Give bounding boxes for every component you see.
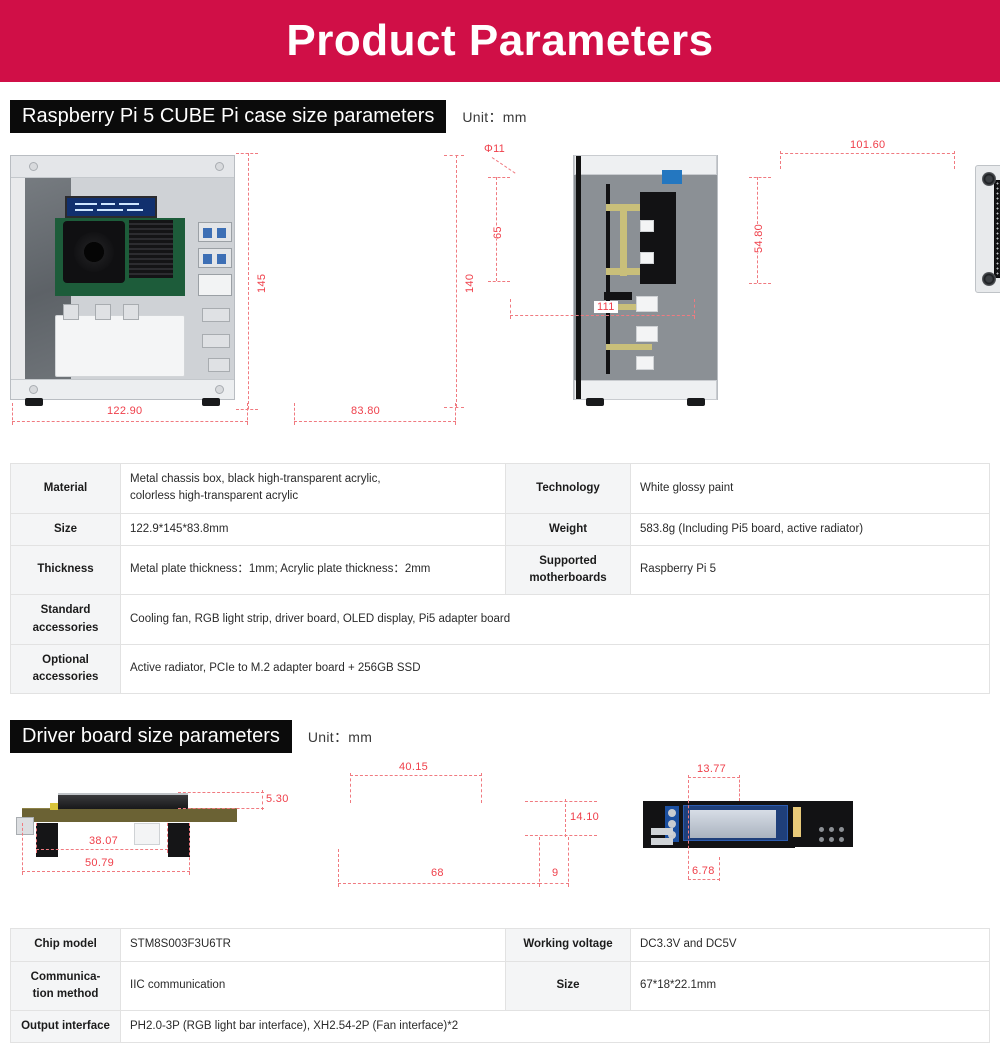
usb-connector xyxy=(16,817,34,835)
dimension-line xyxy=(444,407,464,408)
dimension-line xyxy=(525,801,597,802)
table-row: Material Metal chassis box, black high-t… xyxy=(11,464,990,514)
dimension-line xyxy=(22,823,23,875)
table-row: Thickness Metal plate thickness：1mm; Acr… xyxy=(11,545,990,595)
spec-value: Cooling fan, RGB light strip, driver boa… xyxy=(121,595,990,645)
spec-value: 67*18*22.1mm xyxy=(631,961,990,1011)
dimension-label-height: 145 xyxy=(256,274,268,293)
usb-port xyxy=(198,248,232,268)
diagram-driver-end-view: 13.77 6.78 xyxy=(650,753,830,928)
front-port xyxy=(95,304,111,320)
dimension-line xyxy=(350,773,351,803)
dimension-line xyxy=(248,153,249,409)
section-tag-driver: Driver board size parameters xyxy=(10,720,292,753)
diagram-case-front-view: 145 122.90 xyxy=(0,133,265,433)
section-tag-case: Raspberry Pi 5 CUBE Pi case size paramet… xyxy=(10,100,446,133)
dimension-line xyxy=(36,823,37,853)
dimension-line xyxy=(780,151,781,169)
dimension-line xyxy=(488,281,510,282)
side-port xyxy=(202,334,230,348)
spec-key: Thickness xyxy=(11,545,121,595)
leader-line xyxy=(492,157,516,173)
pi5-adapter-board xyxy=(55,315,185,377)
dimension-label-oled-width: 40.15 xyxy=(396,761,431,773)
table-row: Optional accessories Active radiator, PC… xyxy=(11,644,990,694)
spec-key: Communica- tion method xyxy=(11,961,121,1011)
spec-value: Raspberry Pi 5 xyxy=(631,545,990,595)
dimension-line xyxy=(36,849,168,850)
dimension-label-width: 111 xyxy=(594,301,618,313)
dimension-label-notch-width: 9 xyxy=(550,867,560,879)
dimension-label-end-width: 13.77 xyxy=(694,763,729,775)
dimension-label-width: 122.90 xyxy=(104,405,145,417)
corner-screw-icon xyxy=(215,162,224,171)
spec-key: Supported motherboards xyxy=(506,545,631,595)
pin-header-block xyxy=(36,823,58,857)
driver-spec-table: Chip model STM8S003F3U6TR Working voltag… xyxy=(10,928,990,1043)
side-port xyxy=(202,308,230,322)
table-row: Chip model STM8S003F3U6TR Working voltag… xyxy=(11,929,990,961)
dimension-label-thickness: 5.30 xyxy=(266,793,289,805)
dimension-label-hole-diameter: Φ11 xyxy=(484,143,505,155)
dimension-label-end-depth: 6.78 xyxy=(690,865,717,877)
spec-key: Size xyxy=(506,961,631,1011)
port-block xyxy=(636,356,654,370)
table-row: Output interface PH2.0-3P (RGB light bar… xyxy=(11,1011,990,1043)
dimension-line xyxy=(539,837,540,887)
dimension-line xyxy=(694,299,695,319)
dimension-line xyxy=(178,792,264,793)
spec-value: Metal chassis box, black high-transparen… xyxy=(121,464,506,514)
spec-value: White glossy paint xyxy=(631,464,990,514)
case-foot xyxy=(586,398,604,406)
diagram-case-side-view: 140 83.80 xyxy=(280,133,470,433)
section-header-case: Raspberry Pi 5 CUBE Pi case size paramet… xyxy=(0,100,1000,133)
dimension-line xyxy=(338,849,339,887)
case-foot xyxy=(687,398,705,406)
dimension-line xyxy=(12,403,13,425)
dimension-line xyxy=(539,883,569,884)
spec-value: 122.9*145*83.8mm xyxy=(121,513,506,545)
case-top-rail xyxy=(11,156,234,178)
dimension-line xyxy=(456,155,457,407)
spec-value: PH2.0-3P (RGB light bar interface), XH2.… xyxy=(121,1011,990,1043)
table-row: Standard accessories Cooling fan, RGB li… xyxy=(11,595,990,645)
page-banner: Product Parameters xyxy=(0,0,1000,82)
dimension-line xyxy=(444,155,464,156)
case-spec-table: Material Metal chassis box, black high-t… xyxy=(10,463,990,694)
dimension-line xyxy=(262,790,263,810)
spec-key: Optional accessories xyxy=(11,644,121,694)
dimension-line xyxy=(749,283,771,284)
dimension-line xyxy=(12,421,248,422)
connector xyxy=(134,823,160,845)
spec-value: 583.8g (Including Pi5 board, active radi… xyxy=(631,513,990,545)
spec-value: DC3.3V and DC5V xyxy=(631,929,990,961)
dimension-line xyxy=(167,823,168,853)
dimension-line xyxy=(510,315,695,316)
spec-value: Metal plate thickness：1mm; Acrylic plate… xyxy=(121,545,506,595)
front-port xyxy=(63,304,79,320)
ethernet-port xyxy=(198,274,232,296)
diagram-driver-side-view: 5.30 38.07 50.79 xyxy=(0,753,300,928)
dimension-line xyxy=(510,299,511,319)
dimension-line xyxy=(688,879,720,880)
dimension-label-width: 101.60 xyxy=(847,139,888,151)
oled-display xyxy=(65,196,157,218)
dimension-label-height: 65 xyxy=(492,226,504,239)
driver-board-side-illustration xyxy=(22,808,237,822)
case-bottom-cap xyxy=(574,380,717,400)
case-diagram-strip: 145 122.90 xyxy=(0,133,1000,463)
section-header-driver: Driver board size parameters Unit：mm xyxy=(0,720,1000,753)
dimension-line xyxy=(178,808,264,809)
spec-key: Weight xyxy=(506,513,631,545)
spec-key: Size xyxy=(11,513,121,545)
spec-value: IIC communication xyxy=(121,961,506,1011)
spec-key: Output interface xyxy=(11,1011,121,1043)
page-title: Product Parameters xyxy=(286,19,713,63)
side-port xyxy=(208,358,230,372)
corner-screw-icon xyxy=(215,385,224,394)
standoff xyxy=(606,344,652,350)
dimension-line xyxy=(294,421,456,422)
dimension-line xyxy=(338,883,540,884)
dimension-line xyxy=(749,177,771,178)
case-front-illustration xyxy=(10,155,235,400)
dimension-label-inner-width: 38.07 xyxy=(86,835,121,847)
dimension-line xyxy=(954,151,955,169)
component xyxy=(50,803,58,810)
section-unit-case: Unit：mm xyxy=(462,107,526,127)
table-row: Size 122.9*145*83.8mm Weight 583.8g (Inc… xyxy=(11,513,990,545)
spec-key: Standard accessories xyxy=(11,595,121,645)
front-port xyxy=(123,304,139,320)
dimension-line xyxy=(247,403,248,425)
pin-header-block xyxy=(168,823,190,857)
dimension-line xyxy=(565,799,566,837)
dimension-label-height: 54.80 xyxy=(753,224,765,253)
diagram-case-rear-view: 101.60 54.80 xyxy=(735,133,1000,333)
dimension-line xyxy=(189,823,190,875)
section-unit-driver: Unit：mm xyxy=(308,727,372,747)
dimension-line xyxy=(525,835,597,836)
dimension-line xyxy=(481,773,482,803)
dimension-line xyxy=(294,403,295,425)
dimension-line xyxy=(22,871,190,872)
case-bottom-rail xyxy=(11,379,234,399)
diagram-driver-top-view: 40.15 14.10 68 9 xyxy=(310,753,600,928)
dimension-line xyxy=(719,857,720,881)
dimension-line xyxy=(488,177,510,178)
dimension-line xyxy=(780,153,955,154)
spec-key: Working voltage xyxy=(506,929,631,961)
dimension-label-board-height: 14.10 xyxy=(568,811,601,823)
corner-screw-icon xyxy=(29,385,38,394)
dimension-label-board-length: 68 xyxy=(428,867,447,879)
dimension-label-outer-width: 50.79 xyxy=(82,857,117,869)
dimension-line xyxy=(739,775,740,801)
dimension-line xyxy=(688,775,689,879)
diagram-case-bottom-view: Φ11 65 111 xyxy=(470,133,735,343)
heatsink xyxy=(129,220,173,278)
cooling-fan xyxy=(63,221,125,283)
dimension-line xyxy=(350,775,482,776)
oled-module-stack xyxy=(58,793,188,809)
driver-diagram-strip: 5.30 38.07 50.79 40.15 xyxy=(0,753,1000,928)
case-foot xyxy=(25,398,43,406)
usb-port xyxy=(198,222,232,242)
spec-value: STM8S003F3U6TR xyxy=(121,929,506,961)
dimension-line xyxy=(455,403,456,425)
dimension-line xyxy=(568,837,569,887)
table-row: Communica- tion method IIC communication… xyxy=(11,961,990,1011)
spec-value: Active radiator, PCIe to M.2 adapter boa… xyxy=(121,644,990,694)
spec-key: Technology xyxy=(506,464,631,514)
corner-screw-icon xyxy=(29,162,38,171)
spec-key: Chip model xyxy=(11,929,121,961)
spec-key: Material xyxy=(11,464,121,514)
dimension-label-width: 83.80 xyxy=(348,405,383,417)
dimension-line xyxy=(236,153,258,154)
dimension-line xyxy=(688,777,740,778)
case-foot xyxy=(202,398,220,406)
